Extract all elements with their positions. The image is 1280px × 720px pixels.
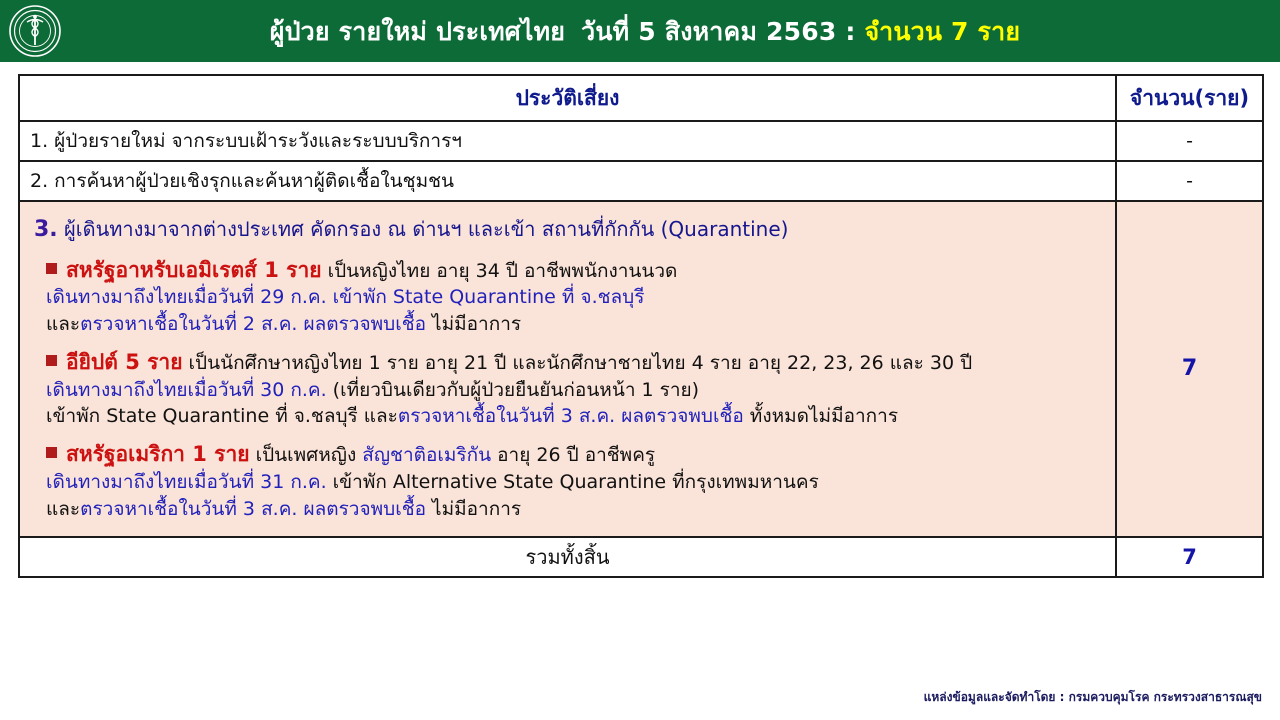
- case-description-usa: เป็นเพศหญิง: [256, 444, 363, 466]
- case-bullet-egypt: อียิปต์ 5 ราย เป็นนักศึกษาหญิงไทย 1 ราย …: [46, 348, 1105, 429]
- case-line-travel: เดินทางมาถึงไทยเมื่อวันที่ 29 ก.ค. เข้าพ…: [46, 284, 1105, 310]
- case-origin-uae: สหรัฐอาหรับเอมิเรตส์ 1 ราย: [66, 258, 322, 282]
- section-number: 3.: [34, 217, 58, 242]
- case-nationality-usa: สัญชาติอเมริกัน: [362, 444, 491, 466]
- square-bullet-icon: [46, 447, 57, 458]
- case-test-egypt: ตรวจหาเชื้อในวันที่ 3 ส.ค. ผลตรวจพบเชื้อ: [398, 405, 744, 427]
- case-symptom-uae: ไม่มีอาการ: [426, 313, 521, 335]
- case-line-travel: เดินทางมาถึงไทยเมื่อวันที่ 31 ก.ค. เข้าพ…: [46, 469, 1105, 495]
- case-description-uae: เป็นหญิงไทย อายุ 34 ปี อาชีพพนักงานนวด: [328, 260, 678, 282]
- table-row-quarantine: 3. ผู้เดินทางมาจากต่างประเทศ คัดกรอง ณ ด…: [19, 201, 1263, 537]
- total-label: รวมทั้งสิ้น: [19, 537, 1116, 577]
- moph-emblem-icon: [8, 4, 62, 58]
- case-symptom-usa: ไม่มีอาการ: [426, 498, 521, 520]
- source-credit: แหล่งข้อมูลและจัดทำโดย : กรมควบคุมโรค กร…: [924, 688, 1262, 707]
- table-row: 2. การค้นหาผู้ป่วยเชิงรุกและค้นหาผู้ติดเ…: [19, 161, 1263, 201]
- case-line-primary: สหรัฐอเมริกา 1 ราย เป็นเพศหญิง สัญชาติอเ…: [46, 440, 1105, 469]
- case-test-prefix-uae: และ: [46, 313, 80, 335]
- report-table-container: ประวัติเสี่ยง จำนวน(ราย) 1. ผู้ป่วยรายให…: [18, 74, 1262, 578]
- case-description-tail-usa: อายุ 26 ปี อาชีพครู: [491, 444, 655, 466]
- case-test-prefix-egypt: เข้าพัก State Quarantine ที่ จ.ชลบุรี แล…: [46, 405, 398, 427]
- case-arrival-uae: เดินทางมาถึงไทยเมื่อวันที่ 29 ก.ค. เข้าพ…: [46, 286, 644, 308]
- case-arrival-egypt: เดินทางมาถึงไทยเมื่อวันที่ 30 ก.ค.: [46, 379, 327, 401]
- column-header-count: จำนวน(ราย): [1116, 75, 1263, 121]
- table-header-row: ประวัติเสี่ยง จำนวน(ราย): [19, 75, 1263, 121]
- title-main-text: ผู้ป่วย รายใหม่ ประเทศไทย: [270, 17, 565, 46]
- case-bullet-usa: สหรัฐอเมริกา 1 ราย เป็นเพศหญิง สัญชาติอเ…: [46, 440, 1105, 521]
- square-bullet-icon: [46, 355, 57, 366]
- case-quarantine-usa: เข้าพัก Alternative State Quarantine ที่…: [327, 471, 819, 493]
- case-test-uae: ตรวจหาเชื้อในวันที่ 2 ส.ค. ผลตรวจพบเชื้อ: [80, 313, 426, 335]
- case-symptom-egypt: ทั้งหมดไม่มีอาการ: [744, 405, 898, 427]
- row-label-active-case-finding: 2. การค้นหาผู้ป่วยเชิงรุกและค้นหาผู้ติดเ…: [19, 161, 1116, 201]
- case-test-usa: ตรวจหาเชื้อในวันที่ 3 ส.ค. ผลตรวจพบเชื้อ: [80, 498, 426, 520]
- case-bullet-uae: สหรัฐอาหรับเอมิเรตส์ 1 ราย เป็นหญิงไทย อ…: [46, 256, 1105, 337]
- column-header-detail: ประวัติเสี่ยง: [19, 75, 1116, 121]
- section-heading-text: ผู้เดินทางมาจากต่างประเทศ คัดกรอง ณ ด่าน…: [64, 217, 788, 241]
- case-line-travel: เดินทางมาถึงไทยเมื่อวันที่ 30 ก.ค. (เที่…: [46, 377, 1105, 403]
- table-row: 1. ผู้ป่วยรายใหม่ จากระบบเฝ้าระวังและระบ…: [19, 121, 1263, 161]
- risk-history-table: ประวัติเสี่ยง จำนวน(ราย) 1. ผู้ป่วยรายให…: [18, 74, 1264, 578]
- row-count-surveillance: -: [1116, 121, 1263, 161]
- case-line-test: และตรวจหาเชื้อในวันที่ 3 ส.ค. ผลตรวจพบเช…: [46, 496, 1105, 522]
- title-count-text: จำนวน 7 ราย: [864, 17, 1020, 46]
- case-line-primary: สหรัฐอาหรับเอมิเรตส์ 1 ราย เป็นหญิงไทย อ…: [46, 256, 1105, 285]
- square-bullet-icon: [46, 263, 57, 274]
- page-title: ผู้ป่วย รายใหม่ ประเทศไทยวันที่ 5 สิงหาค…: [270, 19, 1021, 44]
- header-banner: ผู้ป่วย รายใหม่ ประเทศไทยวันที่ 5 สิงหาค…: [0, 0, 1280, 62]
- quarantine-count-cell: 7: [1116, 201, 1263, 537]
- quarantine-section-heading: 3. ผู้เดินทางมาจากต่างประเทศ คัดกรอง ณ ด…: [34, 216, 1105, 244]
- total-count: 7: [1116, 537, 1263, 577]
- table-row-total: รวมทั้งสิ้น 7: [19, 537, 1263, 577]
- case-line-test: เข้าพัก State Quarantine ที่ จ.ชลบุรี แล…: [46, 403, 1105, 429]
- case-line-test: และตรวจหาเชื้อในวันที่ 2 ส.ค. ผลตรวจพบเช…: [46, 311, 1105, 337]
- case-line-primary: อียิปต์ 5 ราย เป็นนักศึกษาหญิงไทย 1 ราย …: [46, 348, 1105, 377]
- row-count-active-case-finding: -: [1116, 161, 1263, 201]
- case-flight-note-egypt: (เที่ยวบินเดียวกับผู้ป่วยยืนยันก่อนหน้า …: [327, 379, 699, 401]
- row-label-surveillance: 1. ผู้ป่วยรายใหม่ จากระบบเฝ้าระวังและระบ…: [19, 121, 1116, 161]
- case-arrival-usa: เดินทางมาถึงไทยเมื่อวันที่ 31 ก.ค.: [46, 471, 327, 493]
- title-date-text: วันที่ 5 สิงหาคม 2563 :: [581, 17, 855, 46]
- case-description-egypt: เป็นนักศึกษาหญิงไทย 1 ราย อายุ 21 ปี และ…: [189, 352, 973, 374]
- case-origin-egypt: อียิปต์ 5 ราย: [66, 350, 183, 374]
- case-test-prefix-usa: และ: [46, 498, 80, 520]
- quarantine-detail-cell: 3. ผู้เดินทางมาจากต่างประเทศ คัดกรอง ณ ด…: [19, 201, 1116, 537]
- case-origin-usa: สหรัฐอเมริกา 1 ราย: [66, 442, 250, 466]
